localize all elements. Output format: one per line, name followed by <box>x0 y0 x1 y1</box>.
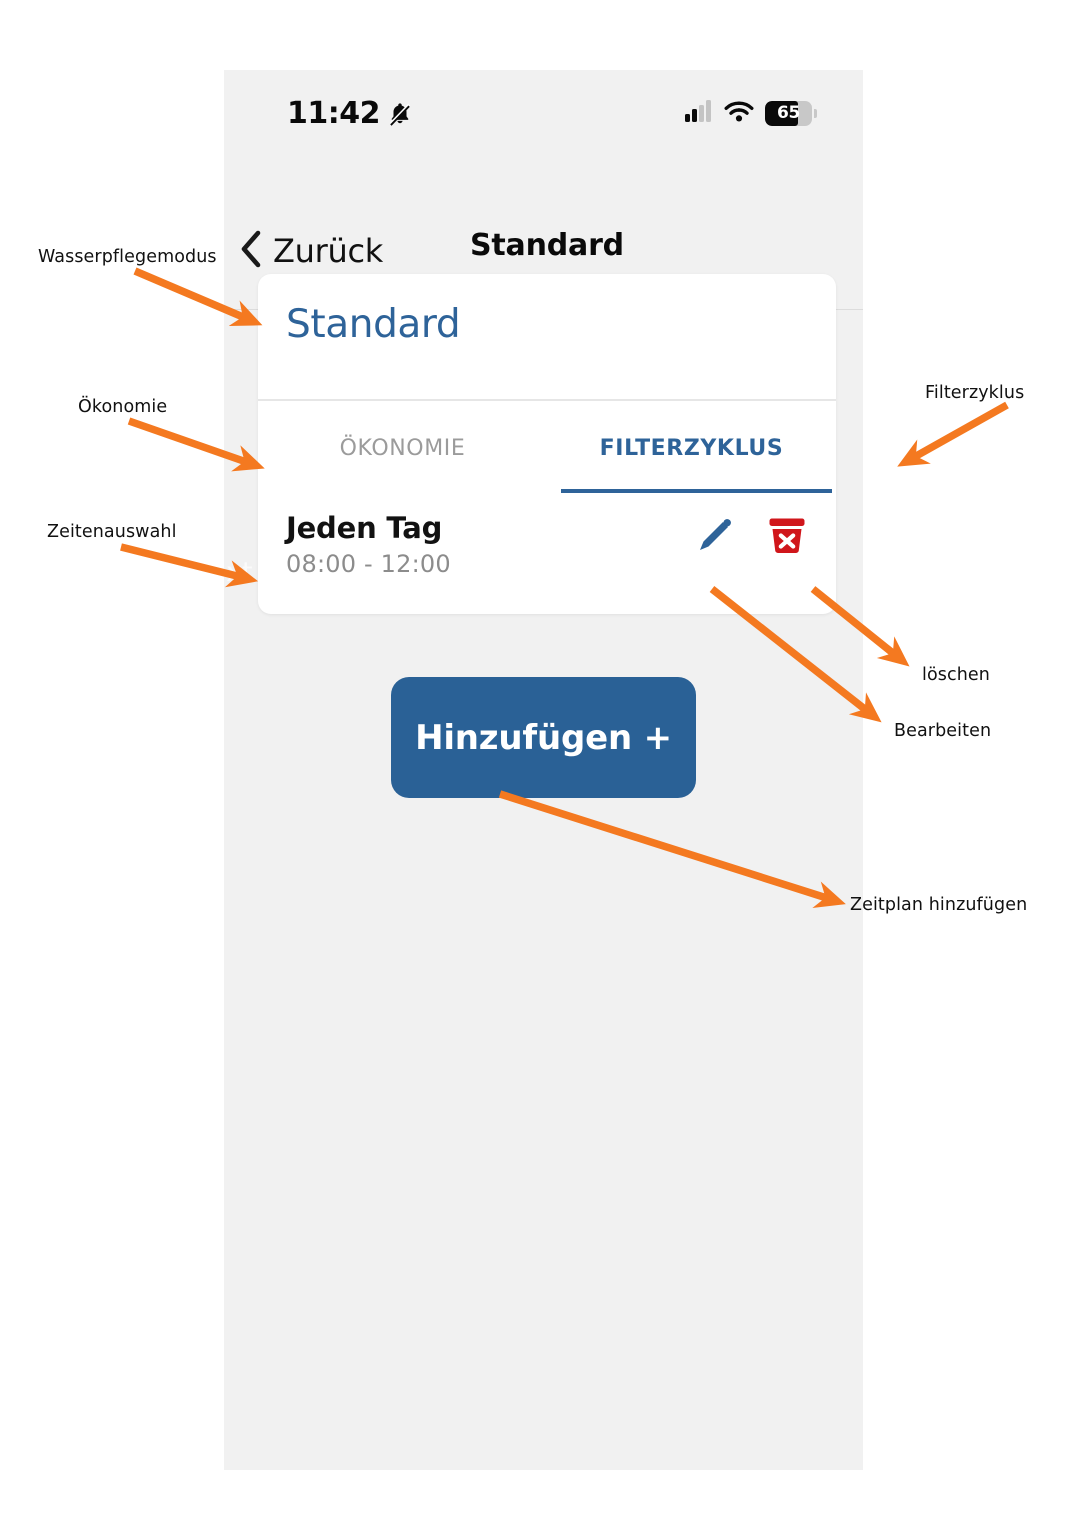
pencil-icon[interactable] <box>692 512 738 558</box>
mode-card: Standard ÖKONOMIE FILTERZYKLUS Jeden Tag… <box>258 274 836 614</box>
page-title: Standard <box>470 228 624 263</box>
annotation-label-oekonomie: Ökonomie <box>78 397 167 417</box>
bell-off-icon <box>387 101 413 127</box>
annotation-label-zeitenauswahl: Zeitenauswahl <box>47 522 177 542</box>
status-bar: 11:42 <box>224 70 863 152</box>
tab-bar: ÖKONOMIE FILTERZYKLUS <box>258 400 836 493</box>
phone-screenshot: 11:42 <box>224 70 863 1470</box>
status-indicators: 65 <box>685 100 817 126</box>
battery-percent-label: 65 <box>765 101 812 126</box>
schedule-day-label: Jeden Tag <box>286 511 442 545</box>
annotation-label-filterzyklus: Filterzyklus <box>925 383 1024 403</box>
annotation-label-zeitplan-hinzufuegen: Zeitplan hinzufügen <box>850 895 1027 915</box>
annotation-label-loeschen: löschen <box>922 665 990 685</box>
tab-oekonomie[interactable]: ÖKONOMIE <box>258 400 547 493</box>
tab-filterzyklus[interactable]: FILTERZYKLUS <box>547 400 836 493</box>
wifi-icon <box>724 100 754 126</box>
add-schedule-button[interactable]: Hinzufügen + <box>391 677 696 798</box>
annotation-label-wasserpflegemodus: Wasserpflegemodus <box>38 247 217 267</box>
annotation-label-bearbeiten: Bearbeiten <box>894 721 991 741</box>
tab-oekonomie-label: ÖKONOMIE <box>340 436 466 461</box>
mode-card-title: Standard <box>286 302 460 347</box>
chevron-left-icon <box>240 230 262 272</box>
tab-filterzyklus-label: FILTERZYKLUS <box>600 436 784 461</box>
ghost-text: xt <box>226 557 253 588</box>
schedule-list-item[interactable]: Jeden Tag 08:00 - 12:00 <box>258 498 836 614</box>
cellular-bars-icon <box>685 100 713 126</box>
status-time: 11:42 <box>287 96 380 131</box>
status-time-group: 11:42 <box>287 96 413 131</box>
back-button[interactable]: Zurück <box>240 230 383 272</box>
schedule-actions <box>692 512 810 558</box>
trash-x-icon[interactable] <box>764 512 810 558</box>
schedule-time-label: 08:00 - 12:00 <box>286 550 451 578</box>
back-button-label: Zurück <box>273 232 383 270</box>
battery-icon: 65 <box>765 101 817 126</box>
